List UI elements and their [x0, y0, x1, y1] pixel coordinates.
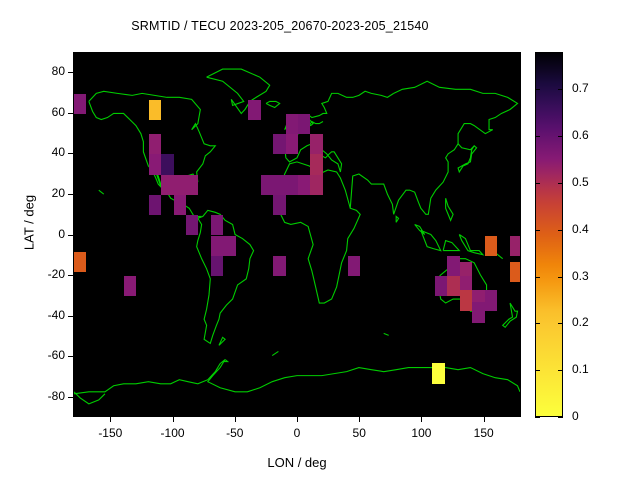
colorbar-tick	[535, 89, 540, 90]
heatmap-cell	[310, 154, 322, 174]
heatmap-cell	[447, 276, 459, 296]
heatmap-cell	[510, 236, 521, 256]
x-axis-tick	[421, 417, 422, 422]
heatmap-cell	[161, 154, 173, 174]
colorbar-tick-label: 0	[572, 409, 612, 423]
colorbar[interactable]	[535, 52, 563, 417]
x-axis-tick	[235, 417, 236, 422]
x-axis-tick	[484, 417, 485, 422]
heatmap-cell	[211, 236, 223, 256]
heatmap-cell	[149, 100, 161, 120]
heatmap-cell-layer	[74, 53, 520, 416]
heatmap-cell	[447, 256, 459, 276]
heatmap-cell	[286, 175, 298, 195]
heatmap-cell	[273, 195, 285, 215]
colorbar-tick	[535, 417, 540, 418]
colorbar-tick	[535, 230, 540, 231]
x-axis-title: LON / deg	[73, 455, 521, 470]
x-axis-tick-label: 50	[329, 426, 389, 440]
heatmap-cell	[248, 100, 260, 120]
colorbar-tick-label: 0.4	[572, 222, 612, 236]
x-axis-tick-label: -150	[80, 426, 140, 440]
heatmap-cell	[273, 175, 285, 195]
heatmap-cell	[211, 256, 223, 276]
heatmap-cell	[149, 134, 161, 154]
x-axis-tick-label: 0	[267, 426, 327, 440]
heatmap-cell	[435, 276, 447, 296]
heatmap-cell	[124, 276, 136, 296]
heatmap-cell	[149, 195, 161, 215]
y-axis-tick-label: -60	[19, 348, 65, 362]
y-axis-tick	[68, 275, 73, 276]
x-axis-tick	[297, 417, 298, 422]
x-axis-tick	[359, 417, 360, 422]
colorbar-tick	[558, 136, 563, 137]
heatmap-cell	[161, 175, 173, 195]
heatmap-cell	[485, 236, 497, 256]
heatmap-cell	[186, 215, 198, 235]
map-plot-area[interactable]	[73, 52, 521, 417]
heatmap-cell	[186, 175, 198, 195]
y-axis-title: LAT / deg	[22, 168, 37, 278]
heatmap-cell	[310, 134, 322, 154]
y-axis-tick-label: 80	[19, 64, 65, 78]
x-axis-tick	[173, 417, 174, 422]
y-axis-tick	[68, 194, 73, 195]
colorbar-tick	[558, 277, 563, 278]
heatmap-cell	[286, 134, 298, 154]
heatmap-cell	[74, 252, 86, 272]
y-axis-tick	[68, 113, 73, 114]
x-axis-tick-label: 150	[454, 426, 514, 440]
heatmap-cell	[348, 256, 360, 276]
colorbar-tick	[535, 323, 540, 324]
y-axis-tick	[68, 316, 73, 317]
y-axis-tick	[68, 356, 73, 357]
x-axis-tick-label: -50	[205, 426, 265, 440]
colorbar-tick-label: 0.3	[572, 269, 612, 283]
colorbar-tick-label: 0.2	[572, 315, 612, 329]
colorbar-tick-label: 0.5	[572, 175, 612, 189]
heatmap-cell	[174, 195, 186, 215]
colorbar-tick	[558, 417, 563, 418]
colorbar-gradient	[536, 53, 562, 416]
y-axis-tick-label: 40	[19, 145, 65, 159]
y-axis-tick	[68, 72, 73, 73]
tec-map-figure: SRMTID / TECU 2023-205_20670-2023-205_21…	[0, 0, 640, 480]
heatmap-cell	[460, 290, 472, 310]
figure-title: SRMTID / TECU 2023-205_20670-2023-205_21…	[0, 19, 560, 33]
colorbar-tick-label: 0.1	[572, 362, 612, 376]
x-axis-tick-label: 100	[391, 426, 451, 440]
heatmap-cell	[211, 215, 223, 235]
colorbar-tick-label: 0.7	[572, 81, 612, 95]
y-axis-tick-label: 0	[19, 227, 65, 241]
y-axis-tick	[68, 235, 73, 236]
y-axis-tick-label: -40	[19, 308, 65, 322]
colorbar-tick	[558, 323, 563, 324]
y-axis-tick-label: -20	[19, 267, 65, 281]
heatmap-cell	[432, 363, 444, 383]
y-axis-tick-label: 20	[19, 186, 65, 200]
y-axis-tick-label: 60	[19, 105, 65, 119]
colorbar-tick	[558, 183, 563, 184]
heatmap-cell	[273, 134, 285, 154]
heatmap-cell	[261, 175, 273, 195]
heatmap-cell	[472, 302, 484, 322]
heatmap-cell	[485, 290, 497, 310]
colorbar-tick	[535, 183, 540, 184]
colorbar-tick	[558, 370, 563, 371]
colorbar-tick	[558, 230, 563, 231]
y-axis-tick	[68, 397, 73, 398]
heatmap-cell	[298, 175, 310, 195]
heatmap-cell	[149, 154, 161, 174]
heatmap-cell	[74, 94, 86, 114]
colorbar-tick	[535, 277, 540, 278]
y-axis-tick	[68, 153, 73, 154]
heatmap-cell	[510, 262, 521, 282]
y-axis-tick-label: -80	[19, 389, 65, 403]
colorbar-tick	[535, 370, 540, 371]
colorbar-tick-label: 0.6	[572, 128, 612, 142]
heatmap-cell	[298, 114, 310, 134]
heatmap-cell	[223, 236, 235, 256]
heatmap-cell	[174, 175, 186, 195]
colorbar-tick	[535, 136, 540, 137]
colorbar-tick	[558, 89, 563, 90]
x-axis-tick	[110, 417, 111, 422]
heatmap-cell	[286, 114, 298, 134]
x-axis-tick-label: -100	[143, 426, 203, 440]
heatmap-cell	[310, 175, 322, 195]
heatmap-cell	[273, 256, 285, 276]
